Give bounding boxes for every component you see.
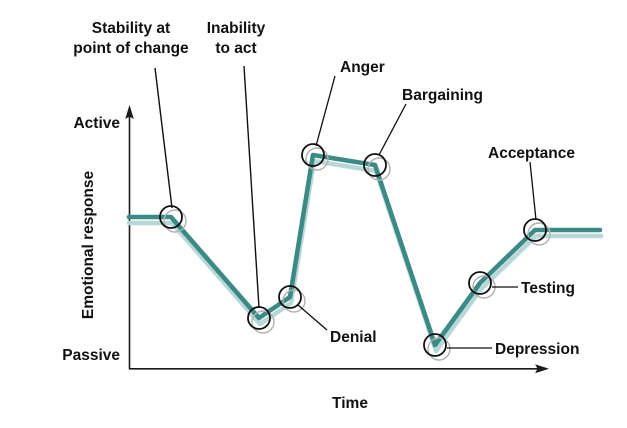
y-axis-title: Emotional response — [80, 171, 97, 320]
annotation-stability-line1: Stability at — [92, 20, 170, 37]
x-axis-title: Time — [332, 395, 368, 412]
annotation-acceptance: Acceptance — [488, 145, 575, 162]
annotation-inability-line1: Inability — [207, 20, 266, 37]
annotation-denial: Denial — [330, 329, 377, 346]
annotation-inability-line2: to act — [215, 40, 256, 57]
annotation-depression: Depression — [495, 341, 579, 358]
y-axis-bottom-label: Passive — [62, 347, 120, 364]
annotation-stability-line2: point of change — [73, 40, 189, 57]
kubler-ross-change-curve-figure: Active Passive Emotional response Time — [0, 0, 627, 428]
annotation-testing: Testing — [521, 280, 575, 297]
annotation-bargaining: Bargaining — [402, 87, 483, 104]
y-axis-top-label: Active — [73, 115, 120, 132]
annotation-anger: Anger — [340, 59, 385, 76]
